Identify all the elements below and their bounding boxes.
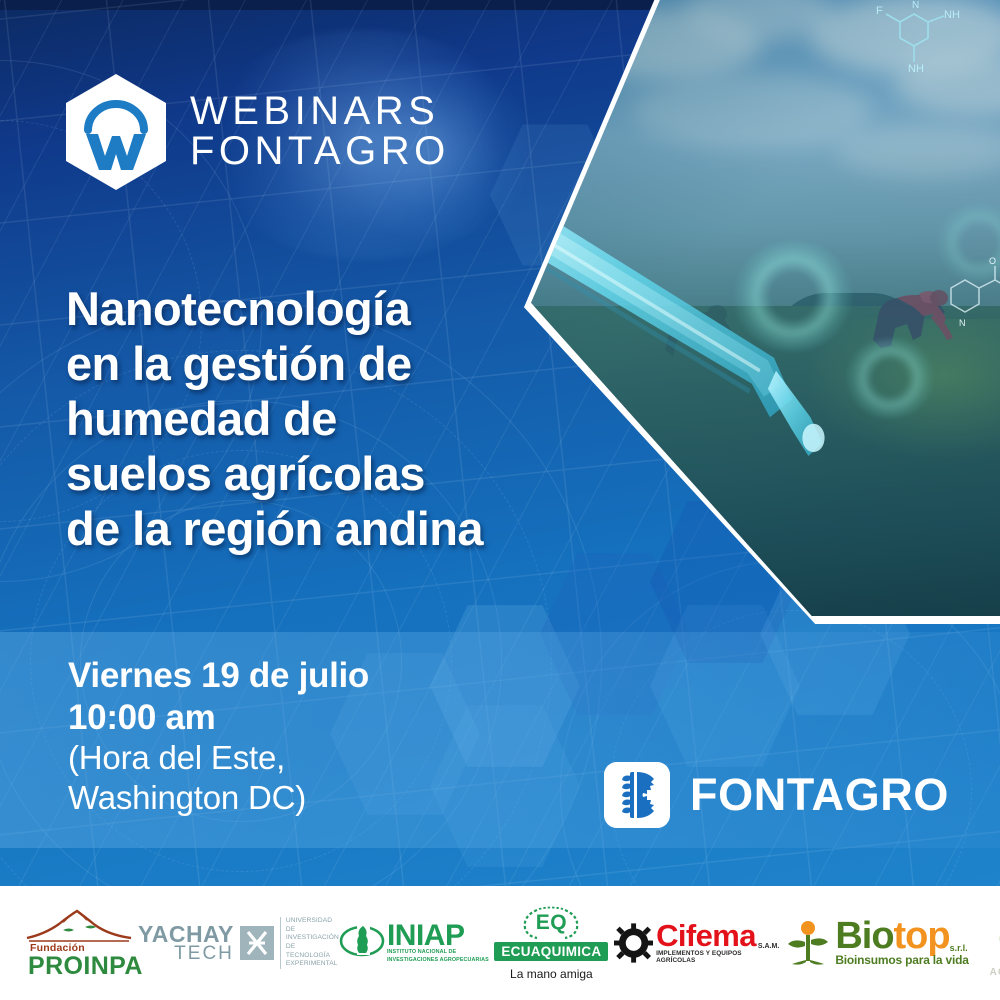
leaf-mark-icon — [992, 908, 1000, 966]
sponsor-logo-ecuaquimica: EQ ECUAQUIMICA La mano amiga — [489, 886, 614, 1000]
cifema-name: Cifema — [656, 922, 756, 951]
yachay-desc-4: EXPERIMENTAL — [286, 960, 339, 969]
title-line-2: en la gestión de — [66, 337, 666, 392]
nanoparticle-glow — [845, 338, 935, 418]
dna-square-icon — [240, 926, 274, 960]
svg-text:N: N — [912, 0, 919, 11]
biotop-part-1: Bio — [835, 915, 893, 957]
sponsor-logo-proinpa: Fundación PROINPA — [20, 886, 138, 1000]
gear-icon — [614, 923, 653, 963]
proinpa-name: PROINPA — [28, 954, 143, 979]
fontagro-brand-label: FONTAGRO — [190, 132, 450, 172]
title-line-3: humedad de — [66, 392, 666, 447]
webinars-fontagro-logo: WEBINARS FONTAGRO — [62, 72, 450, 192]
iniap-name: INIAP — [387, 922, 489, 949]
molecule-icon: O OH N — [927, 254, 1000, 354]
sponsor-bar: Fundación PROINPA YACHAY TECH UNIVERSIDA… — [0, 886, 1000, 1000]
yachay-desc-2: DE INVESTIGACIÓN — [286, 926, 339, 943]
sponsor-logo-agrobaza: AGROBAZA — [975, 886, 1000, 1000]
biotop-suffix: s.r.l. — [950, 943, 968, 953]
page-title: Nanotecnología en la gestión de humedad … — [66, 282, 666, 557]
title-line-4: suelos agrícolas — [66, 447, 666, 502]
nanoparticle-glow — [733, 241, 853, 351]
hexagon-w-icon — [62, 72, 170, 192]
svg-text:N: N — [959, 318, 966, 328]
iniap-emblem-icon — [339, 921, 385, 965]
yachay-line-2: TECH — [138, 945, 234, 962]
iniap-sub-2: INVESTIGACIONES AGROPECUARIAS — [387, 957, 489, 964]
plant-person-icon — [786, 920, 830, 966]
biotop-part-2: top — [894, 915, 950, 957]
sponsor-logo-iniap: INIAP INSTITUTO NACIONAL DE INVESTIGACIO… — [339, 886, 489, 1000]
poster-background: F NH NH N O OH N — [0, 0, 1000, 886]
timezone-line-1: (Hora del Este, — [68, 738, 369, 777]
agrobaza-name: AGROBAZA — [990, 967, 1000, 978]
cifema-sub: IMPLEMENTOS Y EQUIPOS AGRÍCOLAS — [656, 950, 780, 964]
svg-text:NH: NH — [944, 9, 960, 21]
mountain-icon — [23, 908, 135, 942]
sponsor-logo-cifema: Cifema S.A.M. IMPLEMENTOS Y EQUIPOS AGRÍ… — [614, 886, 780, 1000]
event-time: 10:00 am — [68, 697, 369, 739]
svg-text:NH: NH — [908, 63, 924, 75]
sponsor-logo-yachay-tech: YACHAY TECH UNIVERSIDAD DE INVESTIGACIÓN… — [138, 886, 339, 1000]
ecuaquimica-tagline: La mano amiga — [510, 967, 593, 981]
timezone-line-2: Washington DC) — [68, 778, 369, 817]
ecuaquimica-name: ECUAQUIMICA — [494, 942, 608, 961]
webinar-poster: F NH NH N O OH N — [0, 0, 1000, 1000]
sponsor-logo-biotop: Biotop s.r.l. Bioinsumos para la vida — [780, 886, 975, 1000]
svg-text:O: O — [989, 256, 996, 266]
biotop-tagline: Bioinsumos para la vida — [835, 953, 968, 967]
laurel-wreath-icon — [513, 906, 589, 940]
yachay-desc-1: UNIVERSIDAD — [286, 917, 339, 926]
cifema-suffix: S.A.M. — [758, 943, 779, 950]
yachay-description: UNIVERSIDAD DE INVESTIGACIÓN DE TECNOLOG… — [280, 917, 339, 969]
wheat-gear-icon — [604, 762, 670, 828]
svg-text:F: F — [876, 5, 883, 17]
iniap-sub-1: INSTITUTO NACIONAL DE — [387, 949, 489, 956]
title-line-5: de la región andina — [66, 502, 666, 557]
webinars-label: WEBINARS — [190, 92, 450, 132]
fontagro-wordmark: FONTAGRO — [690, 769, 949, 821]
yachay-desc-3: DE TECNOLOGÍA — [286, 943, 339, 960]
schedule-block: Viernes 19 de julio 10:00 am (Hora del E… — [68, 655, 369, 817]
title-line-1: Nanotecnología — [66, 282, 666, 337]
yachay-line-1: YACHAY — [138, 924, 234, 945]
molecule-icon: F NH NH N — [866, 0, 976, 106]
event-date: Viernes 19 de julio — [68, 655, 369, 697]
fontagro-logo: FONTAGRO — [604, 762, 949, 828]
